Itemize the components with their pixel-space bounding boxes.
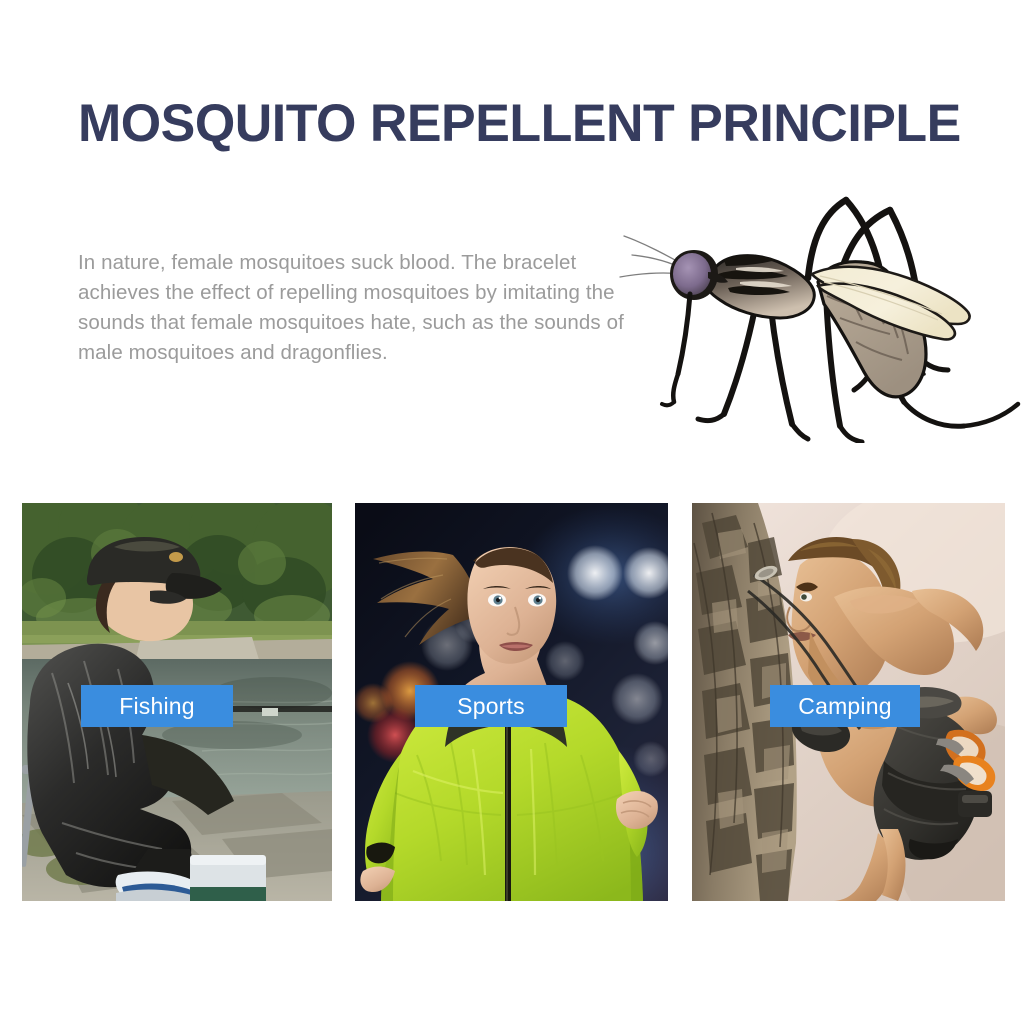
use-case-card-camping[interactable]: Camping	[692, 503, 1005, 901]
page-title: MOSQUITO REPELLENT PRINCIPLE	[78, 96, 961, 152]
use-case-card-fishing[interactable]: Fishing	[22, 503, 332, 901]
use-case-row: Fishing	[0, 503, 1024, 901]
use-case-badge-camping[interactable]: Camping	[770, 685, 920, 727]
use-case-card-sports[interactable]: Sports	[355, 503, 668, 901]
use-case-badge-fishing[interactable]: Fishing	[81, 685, 233, 727]
mosquito-icon	[612, 178, 1024, 443]
intro-paragraph: In nature, female mosquitoes suck blood.…	[78, 248, 653, 368]
use-case-badge-sports[interactable]: Sports	[415, 685, 567, 727]
